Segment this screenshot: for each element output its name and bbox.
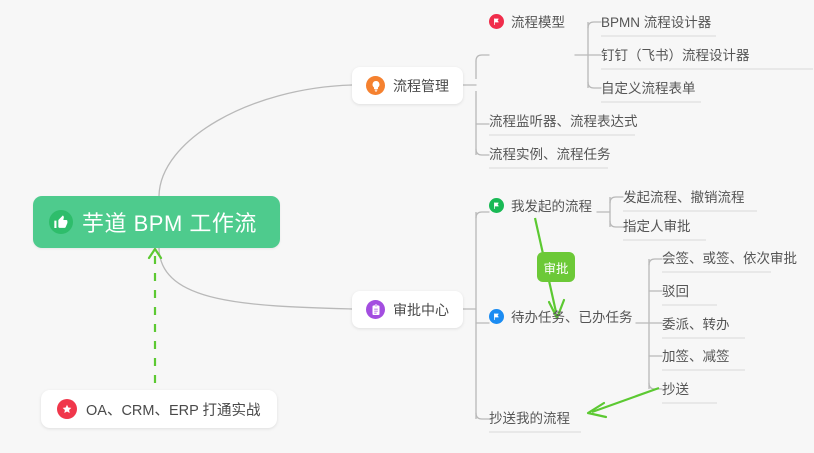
leaf-label-instance-task: 流程实例、流程任务 [489, 143, 611, 163]
leaf-instance-task[interactable]: 流程实例、流程任务 [489, 143, 611, 168]
connector-pm-corner-bottom [476, 149, 489, 155]
connector-model-corner-top [588, 22, 601, 28]
leaf-custom-process-form[interactable]: 自定义流程表单 [601, 77, 696, 102]
leaf-label-start-cancel: 发起流程、撤销流程 [623, 186, 745, 206]
connector-todo-corner-1 [649, 259, 662, 265]
leaf-dingtalk-feishu-designer[interactable]: 钉钉（飞书）流程设计器 [601, 44, 750, 69]
connector-ac-corner-bottom [476, 413, 489, 419]
leaf-label-listener-expression: 流程监听器、流程表达式 [489, 110, 638, 130]
leaf-label-dingtalk-feishu-designer: 钉钉（飞书）流程设计器 [601, 44, 750, 64]
lightbulb-icon [366, 76, 385, 95]
leaf-process-model[interactable]: 流程模型 [489, 11, 565, 36]
connector-mine-corner-bottom [610, 221, 623, 227]
leaf-cc-to-me[interactable]: 抄送我的流程 [489, 407, 570, 432]
leaf-label-my-initiated: 我发起的流程 [511, 195, 592, 215]
flag-icon [489, 14, 504, 29]
leaf-todo-done[interactable]: 待办任务、已办任务 [489, 306, 633, 331]
leaf-add-remove-sign[interactable]: 加签、减签 [662, 345, 730, 370]
leaf-cc[interactable]: 抄送 [662, 378, 689, 403]
leaf-my-initiated[interactable]: 我发起的流程 [489, 195, 592, 220]
approval-badge: 审批 [537, 252, 575, 282]
arrow-cc-to-ccme-shaft [592, 388, 659, 412]
leaf-listener-expression[interactable]: 流程监听器、流程表达式 [489, 110, 638, 135]
root-label: 芋道 BPM 工作流 [82, 206, 257, 238]
leaf-reject[interactable]: 驳回 [662, 280, 689, 305]
flag-icon [489, 198, 504, 213]
branch-label-process-management: 流程管理 [393, 76, 449, 96]
leaf-label-delegate-transfer: 委派、转办 [662, 313, 730, 333]
leaf-label-cc: 抄送 [662, 378, 689, 398]
note-label-integration: OA、CRM、ERP 打通实战 [86, 399, 261, 420]
leaf-label-assignee-approval: 指定人审批 [623, 215, 691, 235]
clipboard-icon [366, 300, 385, 319]
leaf-label-process-model: 流程模型 [511, 11, 565, 31]
leaf-label-custom-process-form: 自定义流程表单 [601, 77, 696, 97]
leaf-label-add-remove-sign: 加签、减签 [662, 345, 730, 365]
branch-label-approval-center: 审批中心 [393, 300, 449, 320]
leaf-label-todo-done: 待办任务、已办任务 [511, 306, 633, 326]
flag-icon [489, 309, 504, 324]
connector-pm-corner-top [476, 55, 489, 61]
connector-model-corner-bottom [588, 82, 601, 88]
leaf-bpmn-designer[interactable]: BPMN 流程设计器 [601, 11, 711, 36]
mindmap-canvas: 芋道 BPM 工作流 流程管理 审批中心 流程模型 流程监听 [0, 0, 814, 453]
branch-node-approval-center[interactable]: 审批中心 [352, 291, 463, 328]
arrow-cc-to-ccme-head [588, 403, 606, 417]
connector-todo-corner-5 [649, 383, 662, 389]
leaf-delegate-transfer[interactable]: 委派、转办 [662, 313, 730, 338]
leaf-assignee-approval[interactable]: 指定人审批 [623, 215, 691, 240]
leaf-label-cc-to-me: 抄送我的流程 [489, 407, 570, 427]
leaf-label-bpmn-designer: BPMN 流程设计器 [601, 11, 711, 31]
leaf-label-multi-sign: 会签、或签、依次审批 [662, 247, 797, 267]
arrow-note-to-root-head [149, 249, 161, 258]
branch-node-process-management[interactable]: 流程管理 [352, 67, 463, 104]
leaf-label-reject: 驳回 [662, 280, 689, 300]
note-node-integration[interactable]: OA、CRM、ERP 打通实战 [41, 390, 277, 428]
thumbs-up-icon [49, 210, 73, 234]
connector-root-to-approval-center [159, 248, 352, 309]
connector-ac-corner-top [476, 212, 489, 218]
root-node[interactable]: 芋道 BPM 工作流 [33, 196, 280, 248]
star-circle-icon [57, 399, 77, 419]
connector-mine-corner-top [610, 197, 623, 203]
approval-badge-label: 审批 [543, 258, 568, 277]
leaf-start-cancel[interactable]: 发起流程、撤销流程 [623, 186, 745, 211]
connector-root-to-process-management [159, 85, 352, 196]
leaf-multi-sign[interactable]: 会签、或签、依次审批 [662, 247, 797, 272]
